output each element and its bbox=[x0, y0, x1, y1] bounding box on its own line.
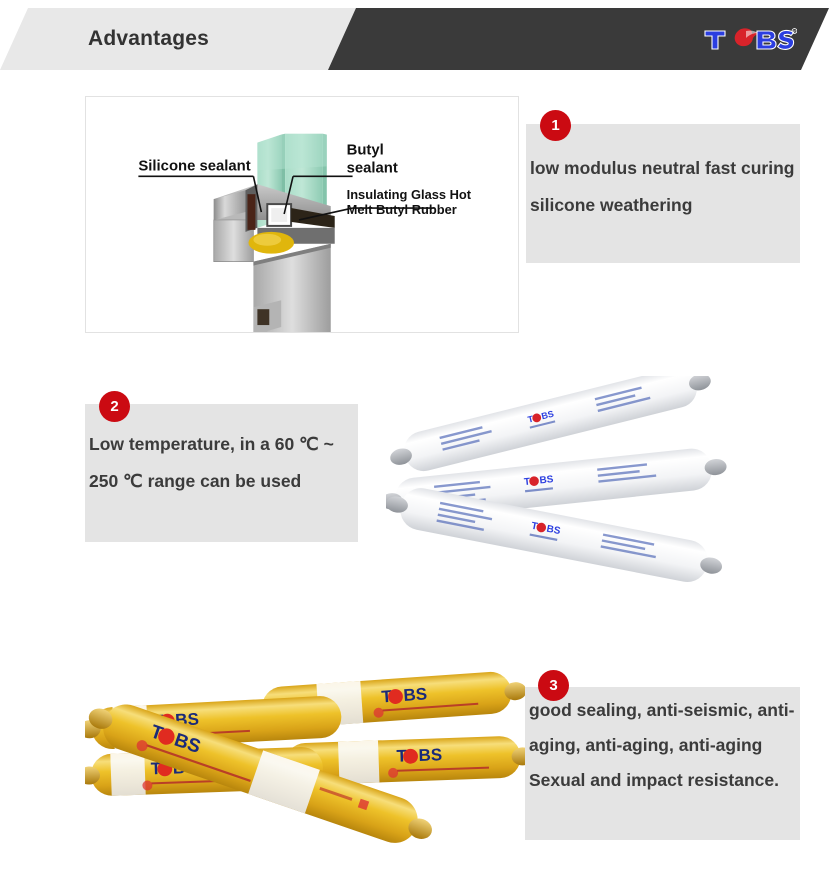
gold-sausage-product-image: T BS T BS T bbox=[85, 651, 525, 849]
page-title: Advantages bbox=[88, 8, 209, 70]
page-header: Advantages R bbox=[0, 8, 829, 70]
label-hot-melt-line2: Melt Butyl Rubber bbox=[347, 202, 457, 217]
svg-text:BS: BS bbox=[539, 474, 554, 486]
advantage-text-3: good sealing, anti-seismic, anti-aging, … bbox=[525, 687, 800, 798]
label-hot-melt-line1: Insulating Glass Hot bbox=[347, 187, 472, 202]
advantage-text-1: low modulus neutral fast curing silicone… bbox=[526, 124, 800, 224]
insulating-glass-diagram: Silicone sealant Butyl sealant Insulatin… bbox=[86, 97, 518, 332]
label-butyl-sealant-line2: sealant bbox=[347, 160, 398, 176]
advantage-text-2: Low temperature, in a 60 ℃ ~ 250 ℃ range… bbox=[85, 404, 358, 500]
tobs-logo: R bbox=[701, 22, 797, 56]
diagram-panel: Silicone sealant Butyl sealant Insulatin… bbox=[85, 96, 519, 333]
svg-text:BS: BS bbox=[418, 745, 442, 765]
advantage-badge-3: 3 bbox=[538, 670, 569, 701]
advantage-panel-1: low modulus neutral fast curing silicone… bbox=[526, 124, 800, 263]
svg-text:BS: BS bbox=[403, 684, 428, 705]
advantage-badge-2: 2 bbox=[99, 391, 130, 422]
label-butyl-sealant-line1: Butyl bbox=[347, 143, 384, 159]
advantage-badge-1: 1 bbox=[540, 110, 571, 141]
white-sausage-product-image: T BS T BS bbox=[386, 376, 744, 604]
advantage-panel-2: Low temperature, in a 60 ℃ ~ 250 ℃ range… bbox=[85, 404, 358, 542]
advantage-panel-3: good sealing, anti-seismic, anti-aging, … bbox=[525, 687, 800, 840]
label-silicone-sealant: Silicone sealant bbox=[138, 158, 250, 174]
